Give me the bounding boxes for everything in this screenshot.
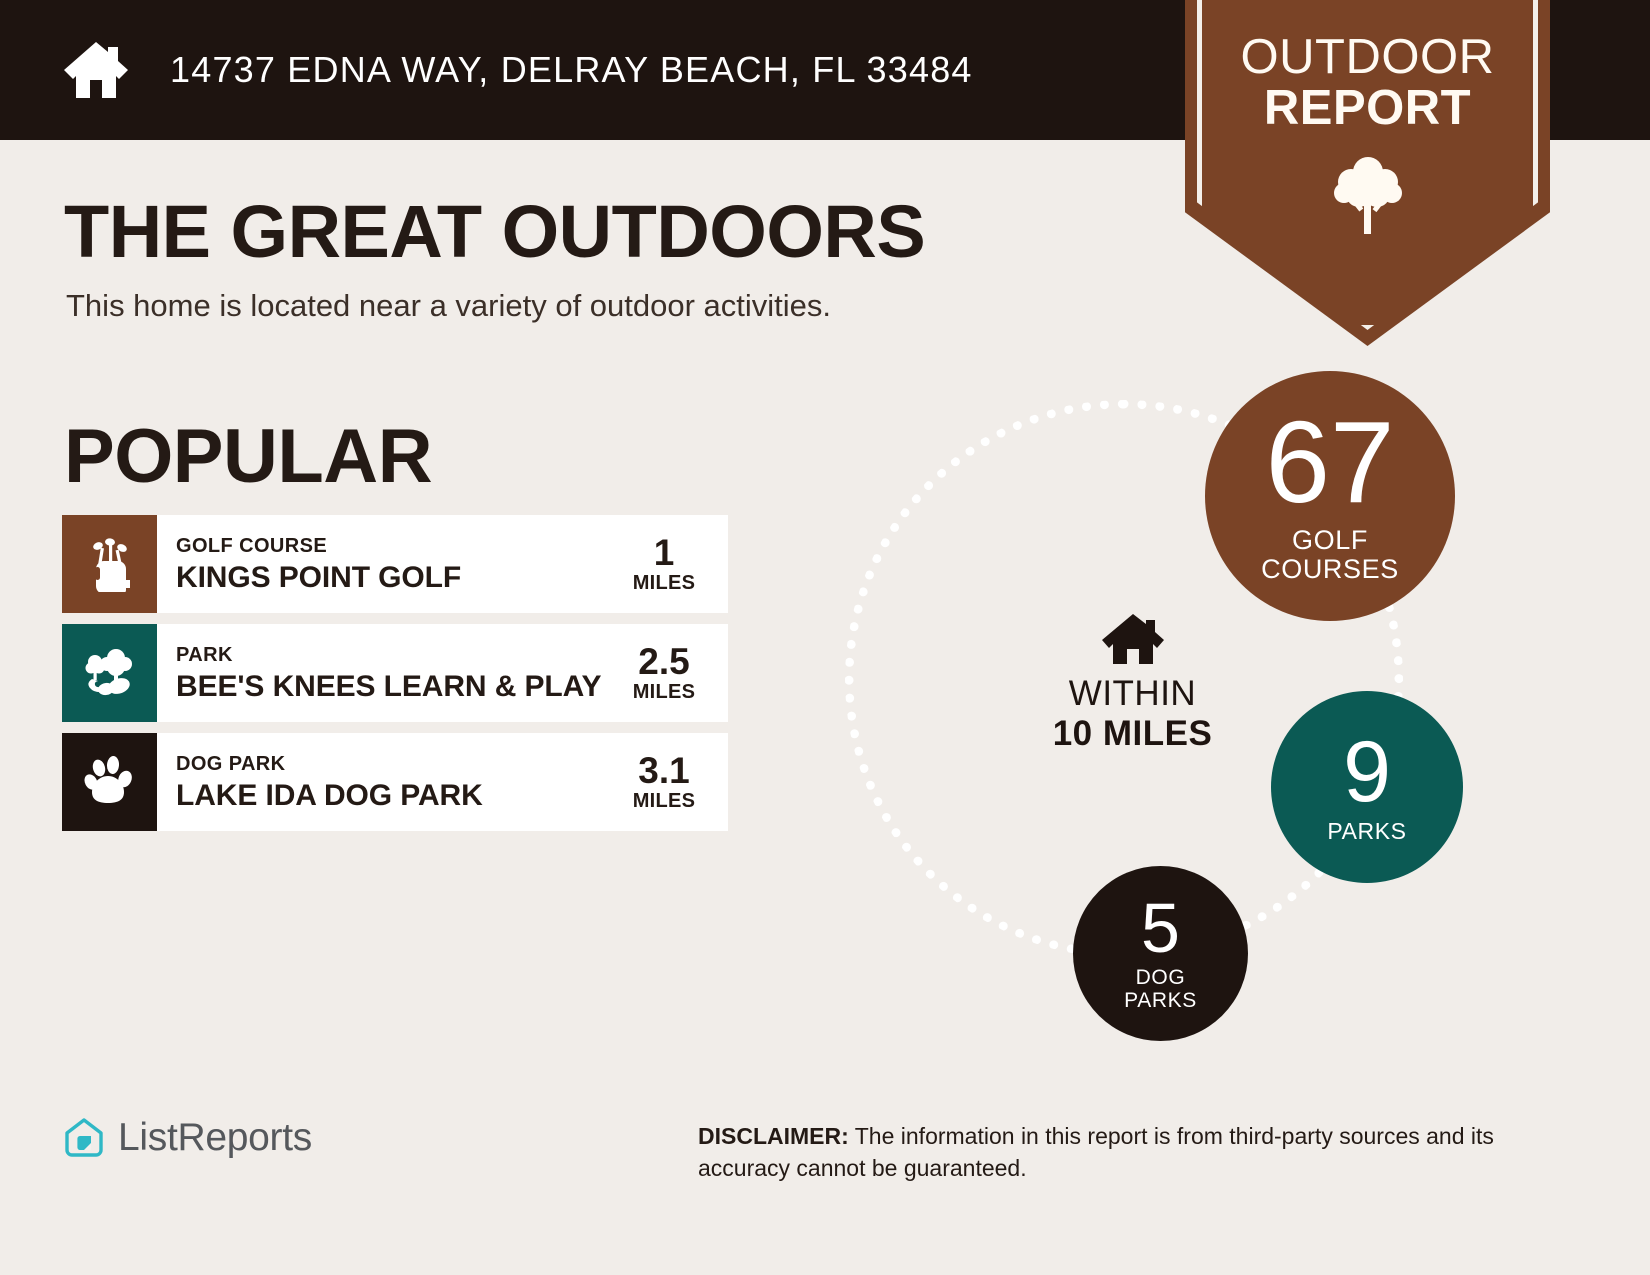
list-item-category: GOLF COURSE [176, 534, 614, 558]
stat-label-line-2: COURSES [1261, 554, 1399, 584]
tree-icon [1330, 152, 1406, 236]
badge-text: OUTDOOR REPORT [1185, 32, 1550, 134]
list-item-name: LAKE IDA DOG PARK [176, 778, 614, 813]
park-trees-icon [62, 624, 157, 722]
stat-circle-parks: 9 PARKS [1271, 691, 1463, 883]
golf-bag-icon [62, 515, 157, 613]
home-icon [1100, 612, 1166, 666]
home-icon [60, 34, 132, 106]
popular-places-list: GOLF COURSE KINGS POINT GOLF 1 MILES [62, 515, 728, 842]
list-item-distance: 3.1 MILES [614, 733, 728, 831]
distance-unit: MILES [633, 572, 696, 595]
stat-circle-golf-courses: 67 GOLF COURSES [1205, 371, 1455, 621]
stat-value: 67 [1265, 404, 1394, 520]
distance-value: 3.1 [638, 752, 689, 790]
disclaimer-label: DISCLAIMER: [698, 1123, 849, 1149]
listreports-logo-text: ListReports [118, 1116, 312, 1160]
stat-value: 5 [1141, 893, 1180, 963]
list-item-category: DOG PARK [176, 752, 614, 776]
stat-label: GOLF COURSES [1261, 526, 1399, 584]
stat-label-line-2: PARKS [1124, 989, 1197, 1012]
distance-unit: MILES [633, 681, 696, 704]
outdoor-report-badge: OUTDOOR REPORT [1185, 0, 1550, 346]
stat-label: DOG PARKS [1124, 966, 1197, 1012]
list-item-name: KINGS POINT GOLF [176, 560, 614, 595]
page-title: THE GREAT OUTDOORS [64, 190, 925, 274]
distance-value: 2.5 [638, 643, 689, 681]
paw-print-icon [62, 733, 157, 831]
list-item-distance: 1 MILES [614, 515, 728, 613]
stat-label: PARKS [1327, 819, 1406, 844]
stat-label-line-1: DOG [1136, 966, 1186, 989]
badge-line-2: REPORT [1185, 83, 1550, 134]
badge-line-1: OUTDOOR [1185, 32, 1550, 83]
stat-value: 9 [1343, 729, 1391, 815]
list-item-name: BEE'S KNEES LEARN & PLAY [176, 669, 614, 704]
list-item-text: PARK BEE'S KNEES LEARN & PLAY [157, 624, 614, 722]
list-item[interactable]: GOLF COURSE KINGS POINT GOLF 1 MILES [62, 515, 728, 613]
within-line-1: WITHIN [1005, 674, 1260, 714]
distance-value: 1 [654, 534, 675, 572]
stat-label-line-1: GOLF [1292, 525, 1368, 555]
property-address: 14737 EDNA WAY, DELRAY BEACH, FL 33484 [170, 49, 973, 91]
within-line-2: 10 MILES [1005, 714, 1260, 754]
listreports-house-icon [62, 1116, 106, 1160]
list-item-text: GOLF COURSE KINGS POINT GOLF [157, 515, 614, 613]
list-item[interactable]: DOG PARK LAKE IDA DOG PARK 3.1 MILES [62, 733, 728, 831]
listreports-logo[interactable]: ListReports [62, 1116, 312, 1160]
list-item-distance: 2.5 MILES [614, 624, 728, 722]
list-item-category: PARK [176, 643, 614, 667]
page-subtitle: This home is located near a variety of o… [66, 286, 831, 326]
within-radius-block: WITHIN 10 MILES [1005, 612, 1260, 754]
distance-unit: MILES [633, 790, 696, 813]
section-heading-popular: POPULAR [64, 414, 432, 500]
list-item[interactable]: PARK BEE'S KNEES LEARN & PLAY 2.5 MILES [62, 624, 728, 722]
list-item-text: DOG PARK LAKE IDA DOG PARK [157, 733, 614, 831]
disclaimer: DISCLAIMER: The information in this repo… [698, 1120, 1510, 1184]
stat-circle-dog-parks: 5 DOG PARKS [1073, 866, 1248, 1041]
